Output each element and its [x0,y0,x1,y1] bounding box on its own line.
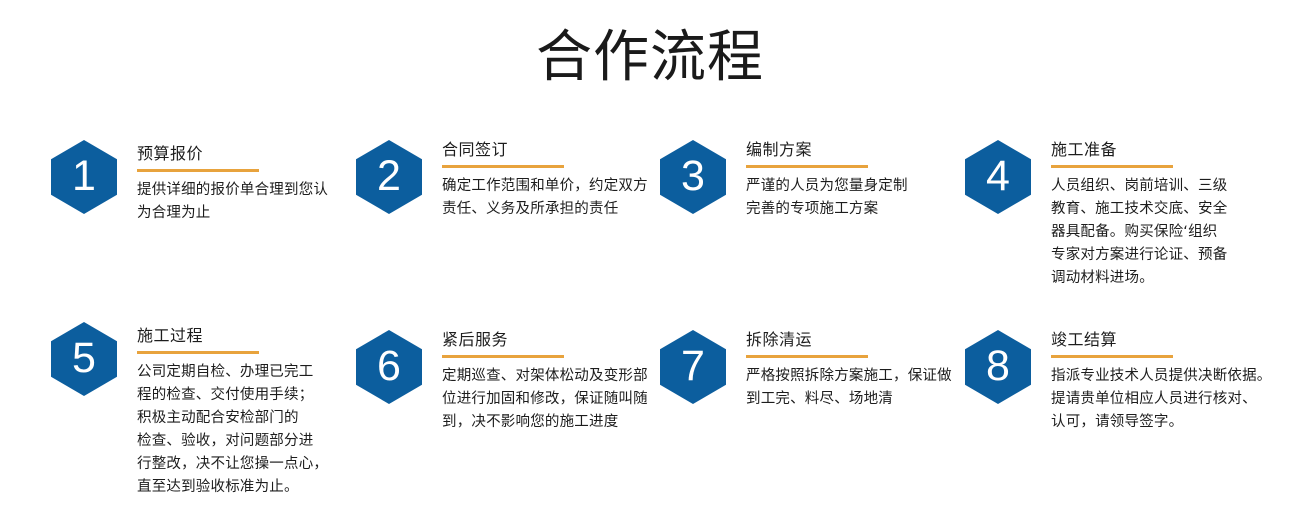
step-description-line: 认可，请领导签字。 [1051,411,1272,434]
step-description-line: 位进行加固和修改，保证随叫随 [442,388,648,411]
step-description-line: 到工完、料尽、场地清 [746,388,952,411]
step-description-line: 积极主动配合安检部门的 [137,407,328,430]
step-description-8: 指派专业技术人员提供决断依据。 提请贵单位相应人员进行核对、 认可，请领导签字。 [1051,365,1272,434]
step-description-line: 教育、施工技术交底、安全 [1051,198,1227,221]
step-hexagon-badge-7: 7 [660,330,726,404]
step-description-line: 完善的专项施工方案 [746,198,908,221]
step-description-line: 直至达到验收标准为止。 [137,476,328,499]
step-description-line: 到，决不影响您的施工进度 [442,411,648,434]
step-hexagon-badge-3: 3 [660,140,726,214]
step-number-1: 1 [51,140,117,214]
step-divider-8 [1051,355,1173,358]
step-number-6: 6 [356,330,422,404]
step-content-4: 施工准备 人员组织、岗前培训、三级 教育、施工技术交底、安全 器具配备。购买保险… [1051,140,1227,290]
step-content-8: 竣工结算 指派专业技术人员提供决断依据。 提请贵单位相应人员进行核对、 认可，请… [1051,330,1272,434]
step-divider-1 [137,169,259,172]
step-divider-5 [137,351,259,354]
step-description-3: 严谨的人员为您量身定制 完善的专项施工方案 [746,175,908,221]
step-description-4: 人员组织、岗前培训、三级 教育、施工技术交底、安全 器具配备。购买保险‘组织 专… [1051,175,1227,290]
step-number-5: 5 [51,322,117,396]
step-content-1: 预算报价 提供详细的报价单合理到您认 为合理为止 [137,144,328,225]
step-description-line: 行整改，决不让您操一点心， [137,453,328,476]
step-content-3: 编制方案 严谨的人员为您量身定制 完善的专项施工方案 [746,140,908,221]
step-heading-3: 编制方案 [746,140,908,160]
step-hexagon-badge-8: 8 [965,330,1031,404]
step-number-2: 2 [356,140,422,214]
step-content-6: 紧后服务 定期巡查、对架体松动及变形部 位进行加固和修改，保证随叫随 到，决不影… [442,330,648,434]
step-hexagon-badge-4: 4 [965,140,1031,214]
step-heading-2: 合同签订 [442,140,648,160]
step-hexagon-badge-6: 6 [356,330,422,404]
step-hexagon-badge-1: 1 [51,140,117,214]
step-description-line: 器具配备。购买保险‘组织 [1051,221,1227,244]
step-divider-4 [1051,165,1173,168]
step-heading-8: 竣工结算 [1051,330,1272,350]
step-description-line: 为合理为止 [137,202,328,225]
step-description-line: 检查、验收，对问题部分进 [137,430,328,453]
step-heading-6: 紧后服务 [442,330,648,350]
step-description-2: 确定工作范围和单价，约定双方 责任、义务及所承担的责任 [442,175,648,221]
step-description-7: 严格按照拆除方案施工，保证做 到工完、料尽、场地清 [746,365,952,411]
process-step-grid: 1 预算报价 提供详细的报价单合理到您认 为合理为止 2 合同签订 确定工作范围… [0,0,1300,532]
step-number-3: 3 [660,140,726,214]
step-heading-4: 施工准备 [1051,140,1227,160]
step-hexagon-badge-5: 5 [51,322,117,396]
step-divider-2 [442,165,564,168]
step-description-6: 定期巡查、对架体松动及变形部 位进行加固和修改，保证随叫随 到，决不影响您的施工… [442,365,648,434]
step-heading-7: 拆除清运 [746,330,952,350]
step-description-line: 定期巡查、对架体松动及变形部 [442,365,648,388]
step-number-4: 4 [965,140,1031,214]
step-divider-6 [442,355,564,358]
step-description-line: 严格按照拆除方案施工，保证做 [746,365,952,388]
step-description-line: 人员组织、岗前培训、三级 [1051,175,1227,198]
step-description-line: 程的检查、交付使用手续； [137,384,328,407]
step-description-line: 确定工作范围和单价，约定双方 [442,175,648,198]
step-content-5: 施工过程 公司定期自检、办理已完工 程的检查、交付使用手续； 积极主动配合安检部… [137,326,328,499]
step-description-line: 责任、义务及所承担的责任 [442,198,648,221]
step-description-line: 专家对方案进行论证、预备 [1051,244,1227,267]
step-hexagon-badge-2: 2 [356,140,422,214]
step-number-8: 8 [965,330,1031,404]
step-description-5: 公司定期自检、办理已完工 程的检查、交付使用手续； 积极主动配合安检部门的 检查… [137,361,328,499]
step-content-2: 合同签订 确定工作范围和单价，约定双方 责任、义务及所承担的责任 [442,140,648,221]
step-content-7: 拆除清运 严格按照拆除方案施工，保证做 到工完、料尽、场地清 [746,330,952,411]
step-description-line: 严谨的人员为您量身定制 [746,175,908,198]
step-divider-7 [746,355,868,358]
step-description-line: 提请贵单位相应人员进行核对、 [1051,388,1272,411]
step-divider-3 [746,165,868,168]
step-description-line: 提供详细的报价单合理到您认 [137,179,328,202]
step-heading-5: 施工过程 [137,326,328,346]
step-heading-1: 预算报价 [137,144,328,164]
step-description-line: 调动材料进场。 [1051,267,1227,290]
step-description-1: 提供详细的报价单合理到您认 为合理为止 [137,179,328,225]
step-description-line: 公司定期自检、办理已完工 [137,361,328,384]
step-number-7: 7 [660,330,726,404]
step-description-line: 指派专业技术人员提供决断依据。 [1051,365,1272,388]
